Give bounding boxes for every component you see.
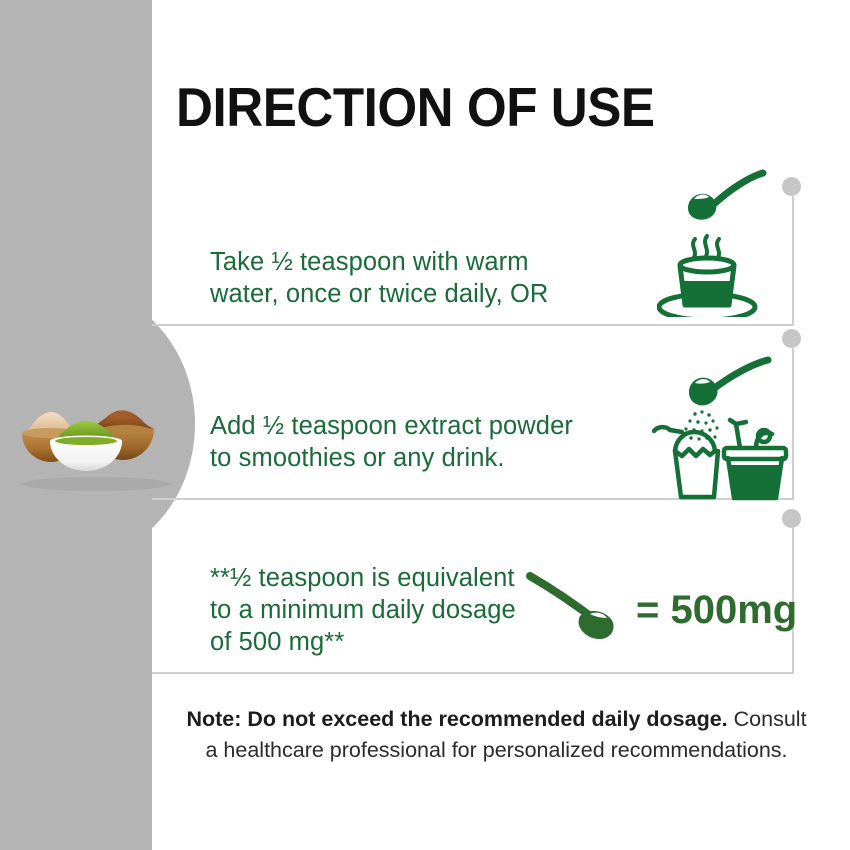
infographic-canvas: DIRECTION OF USE Take ½ teaspoon with wa… <box>0 0 850 850</box>
disclaimer-note: Note: Do not exceed the recommended dail… <box>184 704 809 766</box>
step-row-2: Add ½ teaspoon extract powder to smoothi… <box>152 348 794 500</box>
step-row-3: **½ teaspoon is equivalent to a minimum … <box>152 528 794 674</box>
spoon-over-warm-glass-icon <box>657 152 807 317</box>
step-2-text: Add ½ teaspoon extract powder to smoothi… <box>210 410 573 474</box>
pin-dot-icon-2 <box>782 329 801 348</box>
dosage-equivalence-label: = 500mg <box>636 590 797 630</box>
step-row-1: Take ½ teaspoon with warm water, once or… <box>152 196 794 326</box>
spoon-sprinkling-into-smoothies-icon <box>652 352 807 504</box>
disclaimer-note-bold: Note: Do not exceed the recommended dail… <box>186 707 727 731</box>
page-title: DIRECTION OF USE <box>176 78 655 136</box>
pin-dot-icon-3 <box>782 509 801 528</box>
dosage-equivalence-group: = 500mg <box>522 566 797 653</box>
filled-spoon-icon <box>522 566 630 653</box>
step-1-text: Take ½ teaspoon with warm water, once or… <box>210 246 548 310</box>
step-3-text: **½ teaspoon is equivalent to a minimum … <box>210 562 516 658</box>
